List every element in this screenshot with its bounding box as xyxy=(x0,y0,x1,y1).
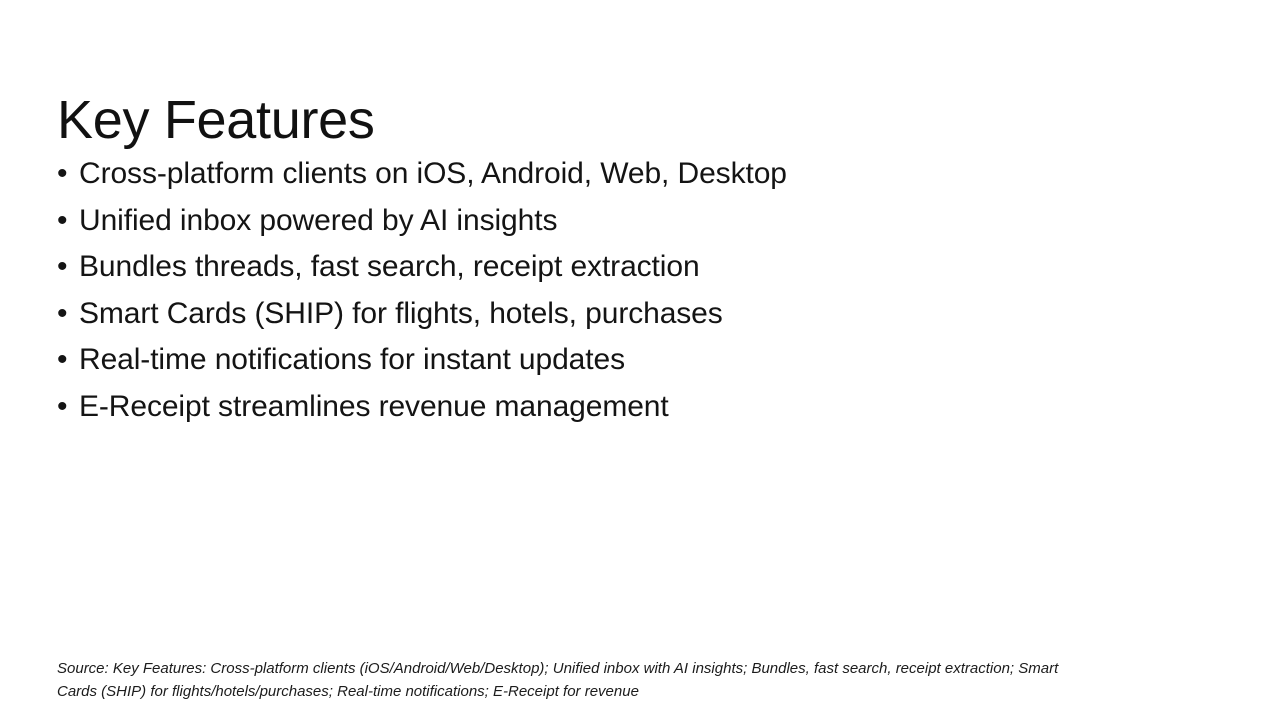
source-note: Source: Key Features: Cross-platform cli… xyxy=(57,657,1102,703)
list-item-label: Cross-platform clients on iOS, Android, … xyxy=(79,153,787,195)
list-item: • Smart Cards (SHIP) for flights, hotels… xyxy=(57,293,1157,340)
list-item: • Bundles threads, fast search, receipt … xyxy=(57,246,1157,293)
list-item: • Unified inbox powered by AI insights xyxy=(57,200,1157,247)
list-item: • Cross-platform clients on iOS, Android… xyxy=(57,153,1157,200)
list-item-label: E-Receipt streamlines revenue management xyxy=(79,386,669,428)
bullet-dot-icon: • xyxy=(57,339,79,381)
list-item-label: Bundles threads, fast search, receipt ex… xyxy=(79,246,700,288)
list-item-label: Smart Cards (SHIP) for flights, hotels, … xyxy=(79,293,723,335)
key-features-bullet-list: • Cross-platform clients on iOS, Android… xyxy=(57,153,1157,432)
bullet-dot-icon: • xyxy=(57,293,79,335)
list-item-label: Unified inbox powered by AI insights xyxy=(79,200,557,242)
slide-canvas: Key Features • Cross-platform clients on… xyxy=(0,0,1280,720)
bullet-dot-icon: • xyxy=(57,200,79,242)
page-title: Key Features xyxy=(57,88,375,152)
list-item-label: Real-time notifications for instant upda… xyxy=(79,339,625,381)
bullet-dot-icon: • xyxy=(57,246,79,288)
list-item: • E-Receipt streamlines revenue manageme… xyxy=(57,386,1157,433)
bullet-dot-icon: • xyxy=(57,153,79,195)
bullet-dot-icon: • xyxy=(57,386,79,428)
list-item: • Real-time notifications for instant up… xyxy=(57,339,1157,386)
